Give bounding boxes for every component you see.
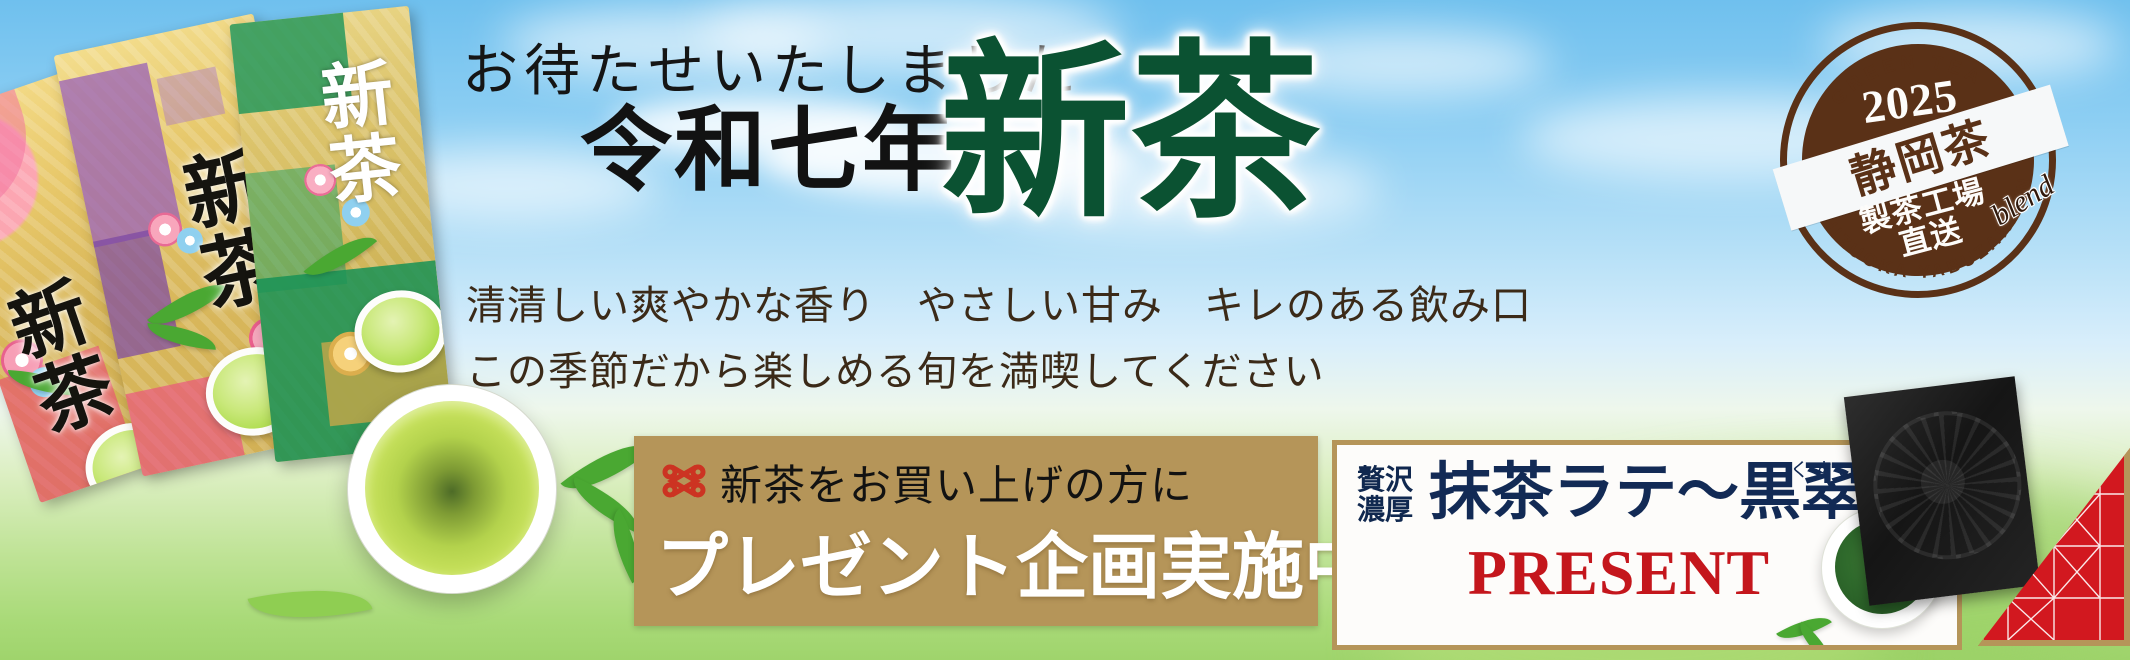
- present-label: PRESENT: [1429, 541, 1809, 605]
- present-badge: 贅沢 濃厚: [1357, 465, 1413, 524]
- promo-headline: プレゼント企画実施中: [656, 508, 1376, 613]
- shizuoka-tea-seal: GREEN TEA SHIZUOKA YABUZAKI-EN 2025 静岡茶 …: [1762, 4, 2074, 316]
- promo-ribbon: 新茶をお買い上げの方に プレゼント企画実施中: [634, 436, 1318, 626]
- tea-leaf: [248, 574, 373, 634]
- present-badge-line-1: 贅沢: [1357, 465, 1413, 495]
- promo-eyebrow: 新茶をお買い上げの方に: [720, 452, 1193, 513]
- product-name-headline: 新茶: [940, 38, 1320, 228]
- promo-banner: 新茶 新茶 新茶 お待たせいたしました 令和七年: [0, 0, 2130, 660]
- tea-cup-photo: [347, 384, 557, 594]
- description-line-2: この季節だから楽しめる旬を満喫してください: [466, 352, 1325, 392]
- package-label: 新茶: [314, 55, 395, 209]
- tea-liquid: [365, 401, 539, 575]
- present-badge-line-2: 濃厚: [1357, 495, 1413, 525]
- knot-icon: [658, 458, 710, 504]
- era-year-headline: 令和七年: [580, 104, 956, 196]
- description-line-1: 清清しい爽やかな香り やさしい甘み キレのある飲み口: [466, 286, 1532, 326]
- present-product-title: 抹茶ラテ〜黒翠〜: [1429, 461, 1925, 523]
- matcha-sachet-photo: [1844, 376, 2040, 605]
